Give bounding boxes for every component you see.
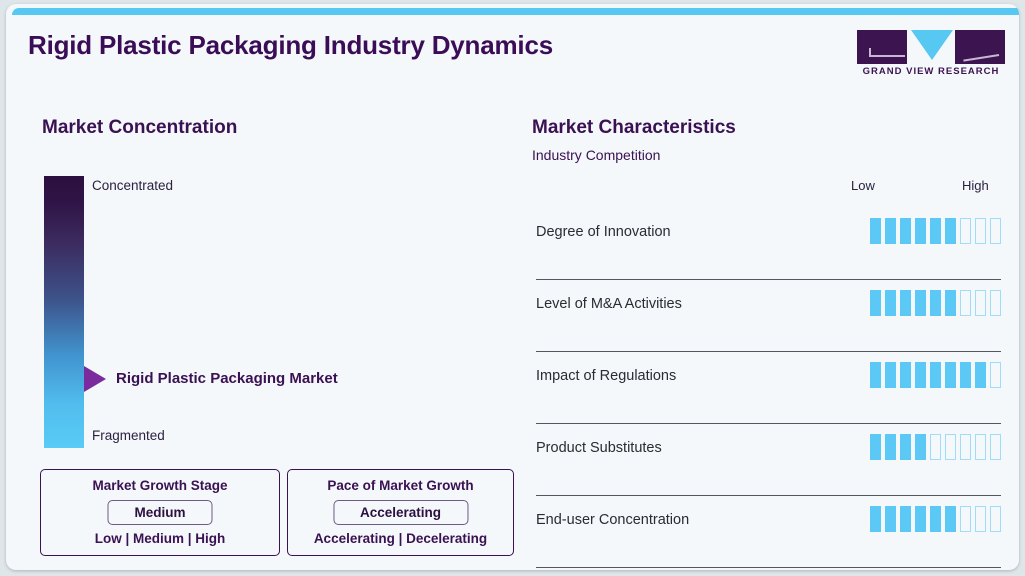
- gradient-label-concentrated: Concentrated: [92, 178, 173, 193]
- characteristic-row: End-user Concentration: [536, 496, 1001, 568]
- rating-bar-filled: [900, 290, 911, 316]
- rating-bar-filled: [960, 362, 971, 388]
- rating-bar-filled: [915, 218, 926, 244]
- rating-bar-filled: [900, 362, 911, 388]
- rating-bar-filled: [870, 290, 881, 316]
- rating-bar-empty: [960, 434, 971, 460]
- rating-bar-filled: [885, 290, 896, 316]
- rating-bar-filled: [885, 434, 896, 460]
- infographic-card: Rigid Plastic Packaging Industry Dynamic…: [6, 4, 1019, 570]
- scale-label-high: High: [962, 178, 989, 193]
- rating-bar-empty: [960, 506, 971, 532]
- scale-label-low: Low: [851, 178, 875, 193]
- characteristic-rating-bars: [870, 506, 1001, 532]
- rating-bar-filled: [885, 218, 896, 244]
- rating-bar-filled: [900, 434, 911, 460]
- pace-of-market-growth-title: Pace of Market Growth: [288, 478, 513, 493]
- rating-bar-empty: [990, 218, 1001, 244]
- pace-of-market-growth-value: Accelerating: [333, 500, 468, 525]
- rating-bar-empty: [945, 434, 956, 460]
- rating-bar-filled: [870, 434, 881, 460]
- rating-bar-filled: [885, 506, 896, 532]
- market-growth-stage-value: Medium: [107, 500, 212, 525]
- gradient-label-fragmented: Fragmented: [92, 428, 165, 443]
- characteristic-row: Impact of Regulations: [536, 352, 1001, 424]
- rating-bar-filled: [915, 362, 926, 388]
- characteristic-label: Impact of Regulations: [536, 368, 676, 384]
- rating-bar-filled: [870, 506, 881, 532]
- rating-bar-filled: [900, 218, 911, 244]
- rating-bar-filled: [870, 218, 881, 244]
- logo-block-right: [955, 30, 1005, 64]
- market-characteristics-subheading: Industry Competition: [532, 147, 660, 163]
- rating-bar-filled: [915, 506, 926, 532]
- characteristic-label: End-user Concentration: [536, 512, 689, 528]
- logo-block-left: [857, 30, 907, 64]
- market-growth-stage-box: Market Growth Stage Medium Low | Medium …: [40, 469, 280, 556]
- rating-bar-filled: [930, 362, 941, 388]
- characteristic-row: Product Substitutes: [536, 424, 1001, 496]
- characteristic-label: Degree of Innovation: [536, 224, 671, 240]
- characteristic-row: Level of M&A Activities: [536, 280, 1001, 352]
- page-title: Rigid Plastic Packaging Industry Dynamic…: [28, 30, 553, 61]
- rating-bar-empty: [930, 434, 941, 460]
- logo-right-mark-diagonal: [963, 54, 999, 62]
- rating-bar-empty: [960, 290, 971, 316]
- market-growth-stage-title: Market Growth Stage: [41, 478, 279, 493]
- logo-left-mark-horizontal: [869, 55, 905, 57]
- rating-bar-filled: [915, 434, 926, 460]
- rating-bar-empty: [975, 290, 986, 316]
- rating-bar-filled: [975, 362, 986, 388]
- brand-logo: GRAND VIEW RESEARCH: [857, 30, 1005, 80]
- pace-of-market-growth-scale: Accelerating | Decelerating: [288, 531, 513, 546]
- market-position-marker-icon: [84, 366, 106, 392]
- rating-bar-empty: [990, 362, 1001, 388]
- rating-bar-filled: [945, 290, 956, 316]
- rating-bar-filled: [915, 290, 926, 316]
- rating-bar-filled: [930, 290, 941, 316]
- rating-bar-empty: [975, 506, 986, 532]
- rating-bar-filled: [870, 362, 881, 388]
- top-accent-bar: [12, 8, 1019, 15]
- logo-wordmark: GRAND VIEW RESEARCH: [857, 66, 1005, 77]
- market-growth-stage-scale: Low | Medium | High: [41, 531, 279, 546]
- concentration-gradient-bar: [44, 176, 84, 448]
- characteristic-label: Level of M&A Activities: [536, 296, 682, 312]
- characteristic-rating-bars: [870, 290, 1001, 316]
- rating-bar-empty: [990, 290, 1001, 316]
- characteristic-row: Degree of Innovation: [536, 208, 1001, 280]
- characteristic-rating-bars: [870, 362, 1001, 388]
- rating-bar-filled: [885, 362, 896, 388]
- rating-bar-filled: [945, 218, 956, 244]
- rating-bar-empty: [975, 434, 986, 460]
- characteristic-label: Product Substitutes: [536, 440, 662, 456]
- row-divider: [536, 567, 1001, 568]
- market-characteristics-heading: Market Characteristics: [532, 117, 736, 139]
- rating-bar-empty: [975, 218, 986, 244]
- rating-bar-filled: [945, 362, 956, 388]
- logo-triangle-icon: [911, 30, 953, 60]
- rating-bar-filled: [930, 218, 941, 244]
- market-position-label: Rigid Plastic Packaging Market: [116, 370, 338, 387]
- rating-bar-filled: [945, 506, 956, 532]
- market-concentration-heading: Market Concentration: [42, 117, 237, 139]
- logo-marks: [857, 30, 1005, 64]
- rating-bar-filled: [900, 506, 911, 532]
- characteristic-rating-bars: [870, 218, 1001, 244]
- rating-bar-filled: [930, 506, 941, 532]
- rating-bar-empty: [990, 506, 1001, 532]
- characteristic-rating-bars: [870, 434, 1001, 460]
- rating-bar-empty: [990, 434, 1001, 460]
- rating-bar-empty: [960, 218, 971, 244]
- pace-of-market-growth-box: Pace of Market Growth Accelerating Accel…: [287, 469, 514, 556]
